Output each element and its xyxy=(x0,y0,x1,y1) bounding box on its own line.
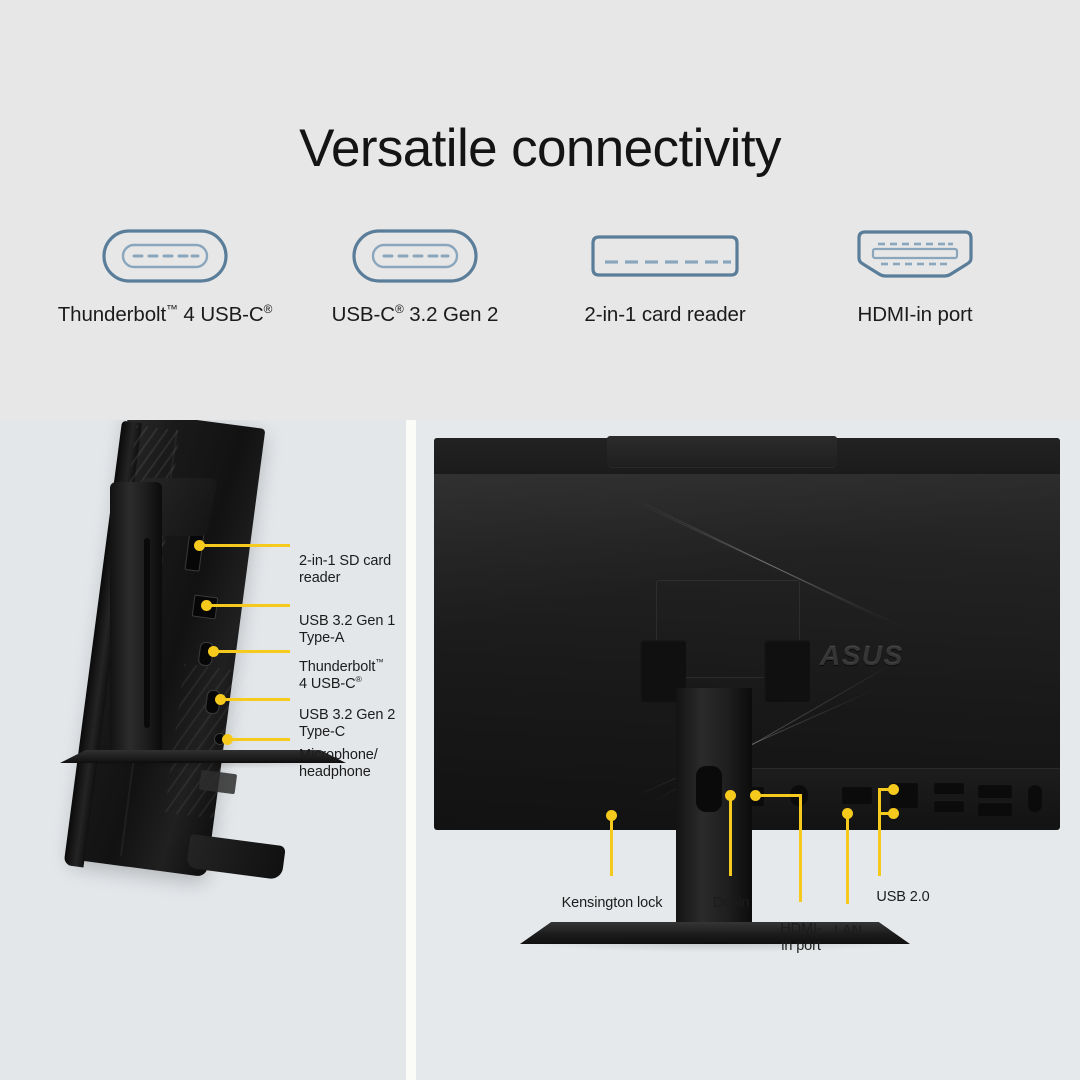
cable-routing-slot xyxy=(696,766,722,812)
callout-leader-thunderbolt xyxy=(218,650,290,653)
callout-leader-kensington-lock xyxy=(610,820,613,876)
feature-label-text-1: USB-C® 3.2 Gen 2 xyxy=(332,303,499,326)
callout-leader-lan xyxy=(846,818,849,904)
vesa-slot-right xyxy=(764,640,810,702)
callout-label-sd-card-reader: 2-in-1 SD cardreader xyxy=(299,536,391,587)
monitor-side-stand-groove xyxy=(144,538,150,728)
webcam-housing xyxy=(607,436,837,468)
callout-label-thunderbolt: Thunderbolt™4 USB-C® xyxy=(299,642,384,693)
callout-text-right-0: Kensington lock xyxy=(562,895,663,911)
feature-label-text-0: Thunderbolt™ 4 USB-C® xyxy=(58,303,273,326)
feature-item-thunderbolt-4-usb-c: Thunderbolt™ 4 USB-C® xyxy=(40,225,290,327)
callout-leader-usb-gen1-type-a xyxy=(211,604,290,607)
feature-item-usb-c-32-gen-2: USB-C® 3.2 Gen 2 xyxy=(290,225,540,327)
callout-label-lan: LAN xyxy=(834,906,862,940)
hdmi-in-port-rear xyxy=(842,786,872,804)
usb-20-port-lower xyxy=(934,800,964,812)
feature-label: 2-in-1 card reader xyxy=(584,303,745,327)
callout-text-right-2: HDMI-in port xyxy=(780,921,821,954)
rear-audio-jack xyxy=(1028,784,1042,812)
monitor-side-view-panel: 2-in-1 SD cardreader USB 3.2 Gen 1Type-A… xyxy=(0,420,406,1080)
callout-label-dc-in: DC-in xyxy=(713,878,750,912)
product-photo-section: 2-in-1 SD cardreader USB 3.2 Gen 1Type-A… xyxy=(0,420,1080,1080)
hero-top-section: Versatile connectivity Thunde xyxy=(0,0,1080,420)
feature-item-hdmi-in-port: HDMI-in port xyxy=(790,225,1040,327)
monitor-back-base-shadow xyxy=(520,942,910,952)
feature-item-card-reader: 2-in-1 card reader xyxy=(540,225,790,327)
monitor-back-view-panel: ASUS Kensington lock xyxy=(416,420,1080,1080)
usb-c-port-icon xyxy=(351,225,479,287)
callout-label-kensington-lock: Kensington lock xyxy=(562,878,663,912)
callout-text-right-1: DC-in xyxy=(713,895,750,911)
feature-label: HDMI-in port xyxy=(858,303,973,327)
callout-leader-sd-card-reader xyxy=(204,544,290,547)
rear-aux-port-2 xyxy=(978,802,1012,816)
usb-c-port-icon xyxy=(101,225,229,287)
monitor-side-stand-arm xyxy=(110,482,162,762)
callout-text-left-4: Microphone/headphone xyxy=(299,747,378,780)
callout-text-left-2: Thunderbolt™4 USB-C® xyxy=(299,659,384,692)
callout-leader-usb-gen2-type-c xyxy=(225,698,290,701)
page-title: Versatile connectivity xyxy=(0,118,1080,179)
feature-label: USB-C® 3.2 Gen 2 xyxy=(332,303,499,327)
feature-label: Thunderbolt™ 4 USB-C® xyxy=(58,303,273,327)
hdmi-port-icon xyxy=(851,225,979,287)
feature-label-text-2: 2-in-1 card reader xyxy=(584,303,745,326)
callout-text-right-4: USB 2.0 xyxy=(876,889,929,905)
callout-label-mic-headphone: Microphone/headphone xyxy=(299,730,378,781)
callout-text-left-0: 2-in-1 SD cardreader xyxy=(299,553,391,586)
callout-label-hdmi-in-port: HDMI-in port xyxy=(780,904,821,955)
feature-label-text-3: HDMI-in port xyxy=(858,303,973,326)
callout-label-usb-20: USB 2.0 xyxy=(876,872,929,906)
panel-divider xyxy=(406,420,416,1080)
feature-icon-row: Thunderbolt™ 4 USB-C® xyxy=(40,225,1040,350)
callout-text-right-3: LAN xyxy=(834,923,862,939)
callout-leader-hdmi-in-port xyxy=(799,794,802,902)
callout-leader-usb-20 xyxy=(878,788,881,876)
callout-leader-hdmi-elbow xyxy=(760,794,802,797)
card-reader-slot-icon xyxy=(589,225,741,287)
asus-brand-logo: ASUS xyxy=(820,640,938,670)
callout-label-usb-gen1-type-a: USB 3.2 Gen 1Type-A xyxy=(299,596,395,647)
usb-20-port-upper xyxy=(934,782,964,794)
callout-leader-mic-headphone xyxy=(232,738,290,741)
callout-leader-dc-in xyxy=(729,800,732,876)
rear-aux-port-1 xyxy=(978,784,1012,798)
